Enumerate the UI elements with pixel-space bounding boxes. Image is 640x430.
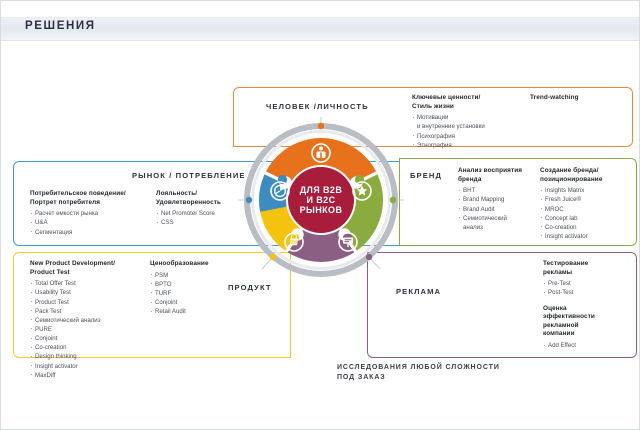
list-item: Brand Audit	[458, 205, 540, 214]
list-item: Conjoint	[30, 334, 152, 343]
list-item: Co-creation	[30, 343, 152, 352]
column-list: Мотивациии внутренние установки Психогра…	[412, 113, 532, 150]
list-item: Usability Test	[30, 288, 152, 297]
panel-product-column-0: New Product Development/Product Test Tot…	[30, 260, 152, 380]
wheel-center-line-1: И B2C	[307, 195, 336, 205]
list-item: Pack Test	[30, 307, 152, 316]
column-heading: Анализ восприятиябренда	[458, 167, 540, 184]
list-item: Fresh Juice®	[540, 195, 635, 204]
column-heading: Trend-watching	[530, 94, 630, 103]
column-list-secondary: Add Effect	[543, 341, 633, 350]
list-item: Product Test	[30, 298, 152, 307]
panel-person-column-0: Ключевые ценности/Стиль жизни Мотивациии…	[412, 94, 532, 150]
list-item: Семиотическийанализ	[458, 214, 540, 232]
panel-ads[interactable]: РЕКЛАМА Тестированиерекламы Pre-Test Pos…	[367, 252, 637, 358]
list-item: Pre-Test	[543, 279, 633, 288]
list-item: Сегментация	[30, 228, 170, 237]
list-item: Insight activator	[30, 362, 152, 371]
column-list: Total Offer Test Usability Test Product …	[30, 279, 152, 380]
list-item: Психография	[412, 132, 532, 141]
column-heading: Создание бренда/позиционирование	[540, 167, 635, 184]
wheel-center-line-2: РЫНКОВ	[300, 205, 343, 215]
panel-brand[interactable]: БРЕНД Анализ восприятиябренда BHT Brand …	[399, 158, 637, 246]
column-list: PSM BPTO TURF Conjoint Retail Audit	[150, 271, 240, 317]
list-item: Concept lab	[540, 214, 635, 223]
footer-note: ИССЛЕДОВАНИЯ ЛЮБОЙ СЛОЖНОСТИПОД ЗАКАЗ	[337, 363, 500, 383]
list-item: PURE	[30, 325, 152, 334]
panel-brand-title: БРЕНД	[410, 171, 442, 180]
list-item: BHT	[458, 186, 540, 195]
list-item: MaxDiff	[30, 371, 152, 380]
panel-brand-column-0: Анализ восприятиябренда BHT Brand Mappin…	[458, 167, 540, 232]
header-bar	[1, 17, 639, 41]
list-item: TURF	[150, 289, 240, 298]
column-heading: Ценообразование	[150, 260, 240, 269]
column-heading: Тестированиерекламы	[543, 260, 633, 277]
list-item: Add Effect	[543, 341, 633, 350]
panel-product-column-1: Ценообразование PSM BPTO TURF Conjoint R…	[150, 260, 240, 316]
list-item: Design thinking	[30, 352, 152, 361]
panel-ads-column-0: Тестированиерекламы Pre-Test Post-Test О…	[543, 260, 633, 350]
list-item: Brand Mapping	[458, 195, 540, 204]
panel-market-title: РЫНОК / ПОТРЕБЛЕНИЕ	[132, 171, 246, 180]
list-item: Insights Matrix	[540, 186, 635, 195]
list-item: Post-Test	[543, 288, 633, 297]
list-item: Co-creation	[540, 223, 635, 232]
column-heading: New Product Development/Product Test	[30, 260, 152, 277]
page-title: РЕШЕНИЯ	[25, 20, 96, 32]
list-item: Семиотический анализ	[30, 316, 152, 325]
panel-market-column-0: Потребительское поведение/Портрет потреб…	[30, 190, 170, 237]
panel-person-column-1: Trend-watching	[530, 94, 630, 105]
column-heading-secondary: Оценкаэффективностирекламнойкомпании	[543, 305, 633, 340]
panel-person-title: ЧЕЛОВЕК /ЛИЧНОСТЬ	[266, 102, 369, 111]
list-item: Расчет емкости рынка	[30, 209, 170, 218]
central-wheel-diagram[interactable]: ДЛЯ B2B И B2C РЫНКОВ	[238, 117, 404, 283]
wheel-center-line-0: ДЛЯ B2B	[300, 185, 343, 195]
panel-ads-title: РЕКЛАМА	[396, 287, 441, 296]
column-list: Insights Matrix Fresh Juice® MROC Concep…	[540, 186, 635, 241]
list-item: Этнография	[412, 141, 532, 150]
list-item: Conjoint	[150, 298, 240, 307]
column-list: Pre-Test Post-Test	[543, 279, 633, 297]
list-item: U&A	[30, 218, 170, 227]
list-item: Retail Audit	[150, 307, 240, 316]
list-item: PSM	[150, 271, 240, 280]
column-heading: Ключевые ценности/Стиль жизни	[412, 94, 532, 111]
list-item: Total Offer Test	[30, 279, 152, 288]
list-item: MROC	[540, 205, 635, 214]
slide-canvas: РЕШЕНИЯ ЧЕЛОВЕК /ЛИЧНОСТЬ Ключевые ценно…	[0, 0, 640, 430]
column-list: Расчет емкости рынка U&A Сегментация	[30, 209, 170, 236]
list-item: Мотивациии внутренние установки	[412, 113, 532, 131]
column-list: BHT Brand Mapping Brand Audit Семиотичес…	[458, 186, 540, 232]
column-heading: Потребительское поведение/Портрет потреб…	[30, 190, 170, 207]
panel-brand-column-1: Создание бренда/позиционирование Insight…	[540, 167, 635, 241]
list-item: BPTO	[150, 280, 240, 289]
list-item: Insight activator	[540, 232, 635, 241]
